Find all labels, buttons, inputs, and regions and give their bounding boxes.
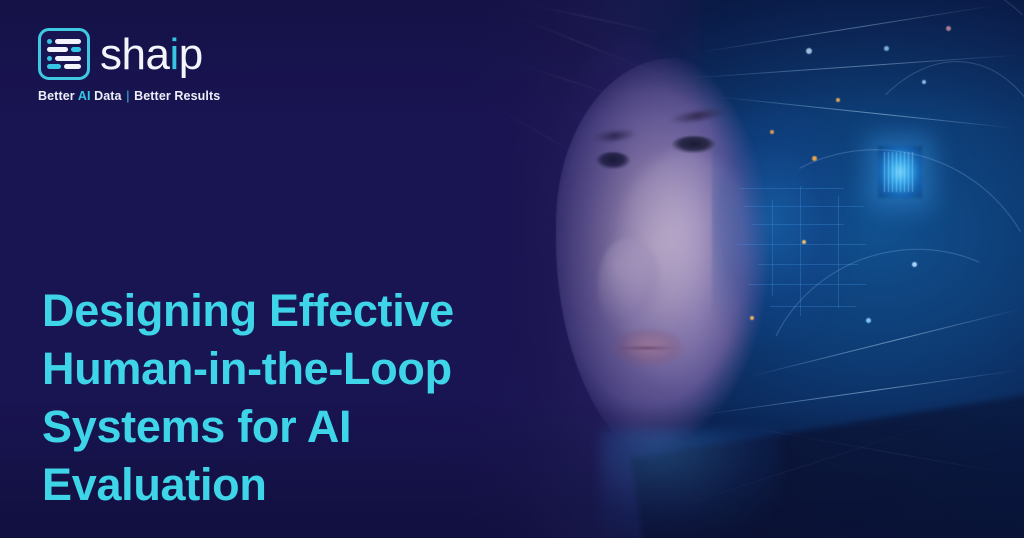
logo-mark-bar (47, 64, 61, 69)
shaip-document-lines-icon (38, 28, 90, 80)
shaip-logo-lockup[interactable]: shaip Better AI Data | Better Results (38, 28, 238, 103)
brand-tagline: Better AI Data | Better Results (38, 89, 238, 103)
shaip-wordmark: shaip (100, 33, 203, 77)
logo-mark-dot (47, 39, 52, 44)
tagline-part3: Better Results (131, 89, 221, 103)
headline-line-4: Evaluation (42, 456, 512, 514)
wordmark-part1: sha (100, 30, 169, 79)
wordmark-part2: p (179, 30, 203, 79)
logo-mark-bar (64, 64, 81, 69)
logo-mark-bar (55, 39, 81, 44)
tagline-accent: AI (78, 89, 91, 103)
logo-mark-bar (55, 56, 81, 61)
logo-mark-row (47, 47, 81, 53)
hero-banner: shaip Better AI Data | Better Results De… (0, 0, 1024, 538)
logo-top-row: shaip (38, 28, 238, 80)
hero-content: shaip Better AI Data | Better Results De… (0, 0, 1024, 538)
logo-mark-row (47, 64, 81, 70)
headline-line-2: Human-in-the-Loop (42, 340, 512, 398)
wordmark-accent-letter: i (169, 30, 178, 79)
logo-mark-row (47, 38, 81, 44)
tagline-part2: Data (91, 89, 126, 103)
logo-mark-bar (47, 47, 68, 52)
logo-mark-dot (47, 56, 52, 61)
page-title: Designing Effective Human-in-the-Loop Sy… (42, 282, 512, 514)
tagline-part1: Better (38, 89, 78, 103)
headline-line-3: Systems for AI (42, 398, 512, 456)
headline-line-1: Designing Effective (42, 282, 512, 340)
logo-mark-bar (71, 47, 81, 52)
logo-mark-row (47, 55, 81, 61)
